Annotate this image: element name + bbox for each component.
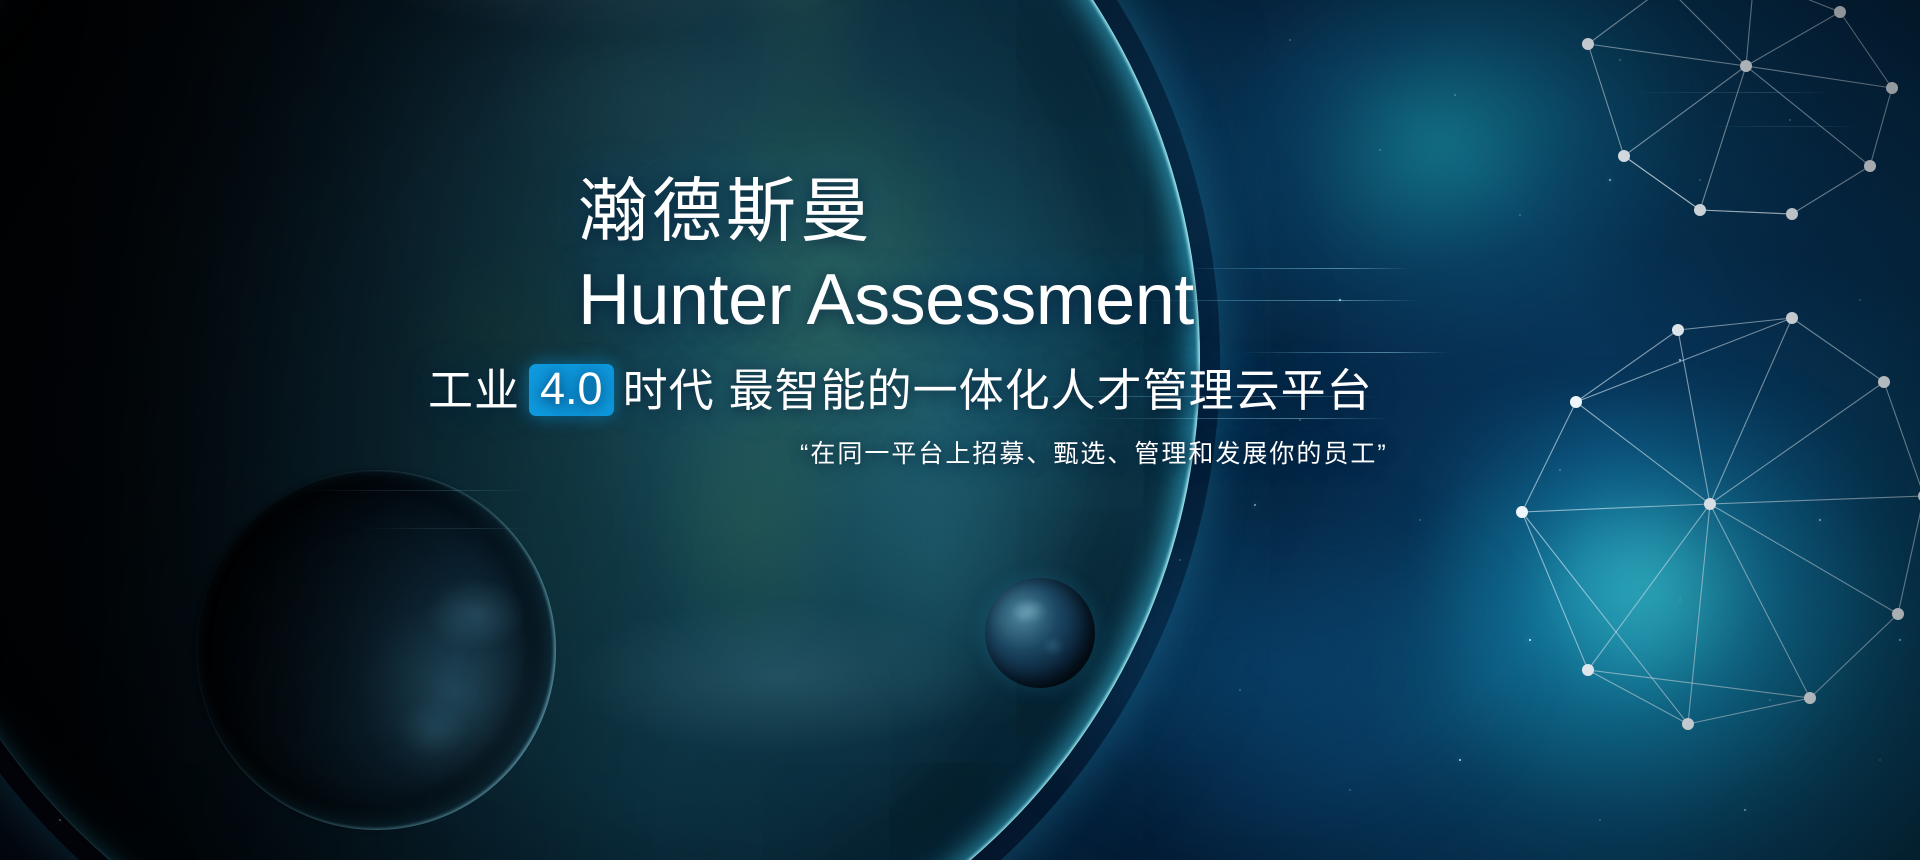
small-moon-planet: [985, 578, 1095, 688]
brand-title-english: Hunter Assessment: [578, 264, 1388, 336]
subtitle-era: 时代: [623, 368, 715, 413]
hero-subtitle: 工业 4.0 时代 最智能的一体化人才管理云平台: [428, 364, 1388, 416]
subtitle-tail: 最智能的一体化人才管理云平台: [729, 368, 1373, 413]
hero-banner: 瀚德斯曼 Hunter Assessment 工业 4.0 时代 最智能的一体化…: [0, 0, 1920, 860]
brand-title-chinese: 瀚德斯曼: [578, 176, 1388, 246]
industry-version-badge: 4.0: [529, 364, 614, 416]
hero-copy-block: 瀚德斯曼 Hunter Assessment 工业 4.0 时代 最智能的一体化…: [578, 176, 1388, 467]
dark-moon-rim-light: [196, 470, 556, 830]
hero-tagline: “在同一平台上招募、甄选、管理和发展你的员工”: [800, 442, 1388, 467]
subtitle-prefix: 工业: [428, 368, 520, 413]
